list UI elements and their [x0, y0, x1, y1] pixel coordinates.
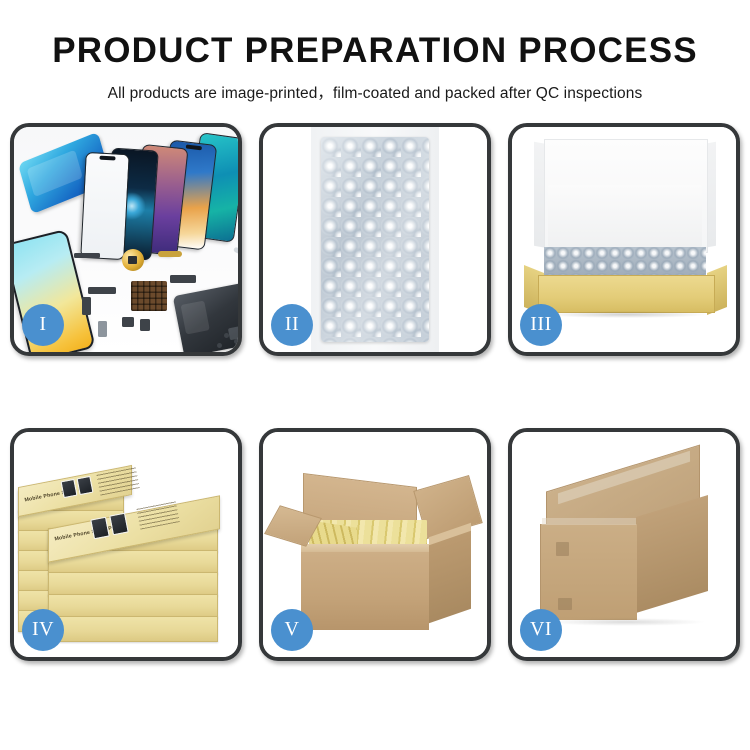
- ribbon-cable-icon: [170, 275, 196, 283]
- step-badge-4: IV: [22, 609, 64, 651]
- phone-backplate-icon: [173, 282, 238, 351]
- flex-cable-icon: [158, 251, 182, 257]
- header: PRODUCT PREPARATION PROCESS All products…: [0, 0, 750, 103]
- carton-crease-mark: [558, 598, 572, 610]
- flex-cable-icon: [74, 253, 100, 258]
- step-badge-5: V: [271, 609, 313, 651]
- spare-parts-group: [74, 247, 238, 352]
- carton-crease-mark: [556, 542, 569, 556]
- printed-phone-image: [77, 476, 94, 495]
- screw-icon: [234, 339, 238, 344]
- stacked-box: [48, 616, 218, 642]
- chip-grid-icon: [131, 281, 167, 311]
- page-title: PRODUCT PREPARATION PROCESS: [0, 33, 750, 70]
- connector-icon: [88, 287, 116, 294]
- tweezers-tool-icon: [233, 246, 238, 268]
- small-part-icon: [122, 317, 134, 327]
- process-steps-grid: I II III: [10, 123, 740, 661]
- page-subtitle: All products are image-printed，film-coat…: [0, 81, 750, 103]
- packing-tape-icon: [542, 518, 636, 525]
- screw-icon: [217, 343, 222, 348]
- phone-screen-1-icon: [80, 152, 129, 260]
- notch-icon: [99, 155, 115, 159]
- small-part-icon: [140, 319, 150, 331]
- notch-icon: [185, 144, 201, 149]
- carton-front-panel: [540, 524, 637, 620]
- screw-icon: [224, 333, 229, 338]
- step-panel-3: III: [508, 123, 740, 356]
- carton-side-panel: [636, 495, 708, 613]
- step-badge-3: III: [520, 304, 562, 346]
- step-badge-6: VI: [520, 609, 562, 651]
- printed-phone-image: [61, 479, 78, 498]
- step-panel-6: VI: [508, 428, 740, 661]
- bubble-wrapped-contents-icon: [544, 247, 706, 277]
- kraft-box-front: [538, 275, 715, 313]
- product-preparation-infographic: PRODUCT PREPARATION PROCESS All products…: [0, 0, 750, 750]
- bubble-wrap-icon: [321, 137, 429, 342]
- connector-icon: [82, 297, 91, 315]
- foam-insert-icon: [548, 185, 702, 247]
- stacked-box: [48, 594, 218, 618]
- step-badge-2: II: [271, 304, 313, 346]
- speaker-coil-icon: [122, 249, 144, 271]
- step-panel-4: Mobile Phone Spare Parts Mobile Phone Sp…: [10, 428, 242, 661]
- stacked-box: [48, 572, 218, 596]
- step-panel-5: V: [259, 428, 491, 661]
- drop-shadow: [546, 311, 706, 318]
- step-panel-1: I: [10, 123, 242, 356]
- carton-side-panel: [429, 531, 471, 623]
- phone-screen-fan: [66, 135, 238, 260]
- step-panel-2: II: [259, 123, 491, 356]
- sim-tray-icon: [98, 321, 107, 337]
- drop-shadow: [546, 618, 706, 626]
- carton-front-panel: [301, 552, 429, 630]
- step-badge-1: I: [22, 304, 64, 346]
